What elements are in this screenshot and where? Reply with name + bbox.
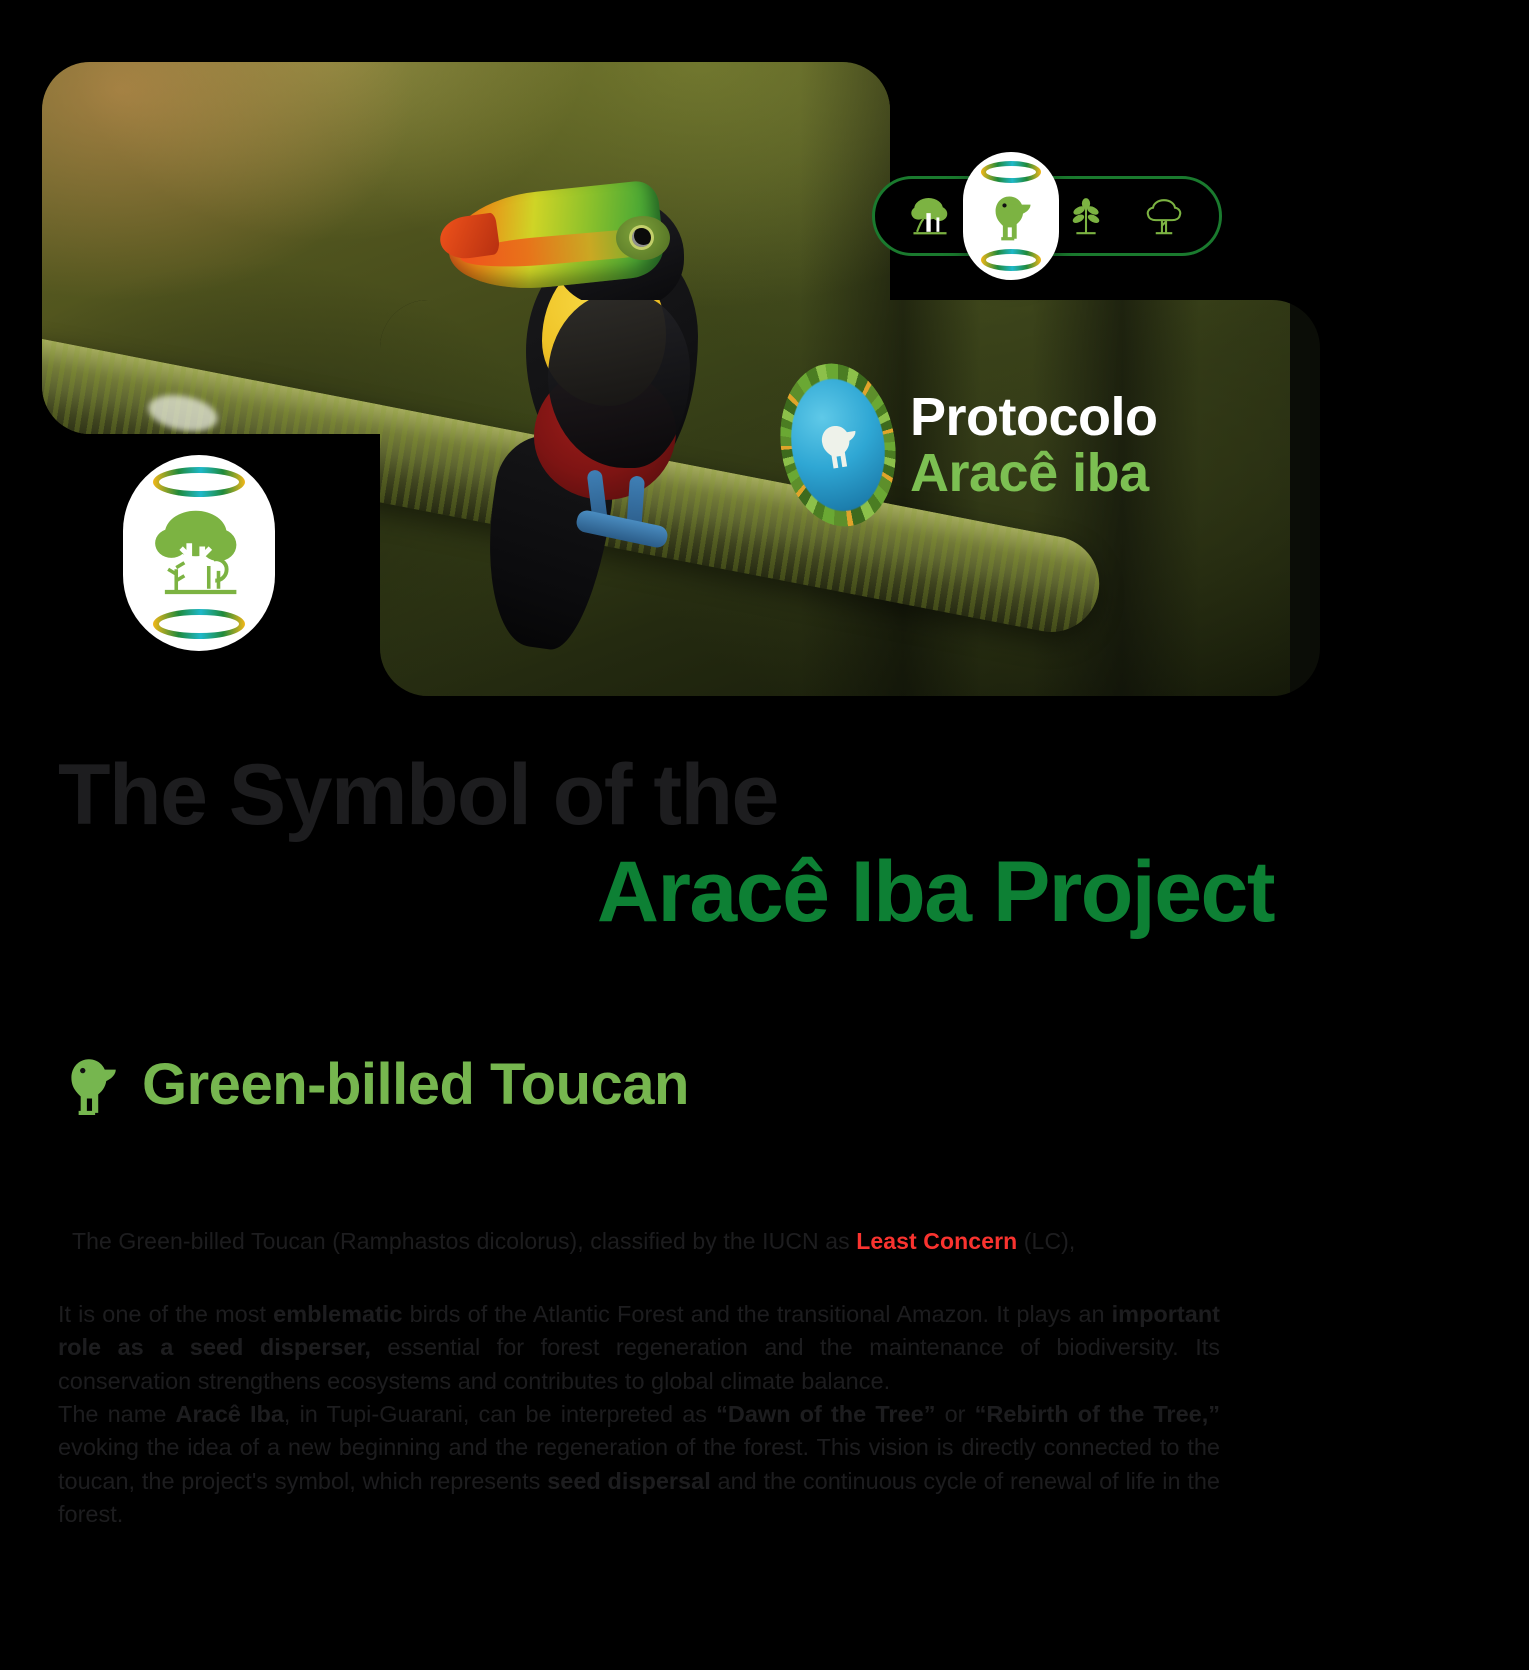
species-heading: Green-billed Toucan [58, 1045, 689, 1123]
p2-text: or [935, 1401, 974, 1427]
halo-arc-top-icon [981, 161, 1041, 183]
p1-text: birds of the Atlantic Forest and the tra… [402, 1301, 1111, 1327]
headline-line-2: Aracê Iba Project [0, 847, 1529, 938]
halo-arc-bottom-icon [981, 249, 1041, 271]
species-name: Green-billed Toucan [142, 1051, 689, 1118]
brand-line-1: Protocolo [910, 389, 1158, 445]
status-badge: Least Concern [856, 1228, 1017, 1254]
hero-section: Protocolo Aracê iba [0, 0, 1529, 745]
p1-emphasis-emblematic: emblematic [273, 1301, 402, 1327]
brand-lockup: Protocolo Aracê iba [790, 372, 1158, 518]
body-copy: It is one of the most emblematic birds o… [58, 1298, 1220, 1532]
toucan-bill-tip [437, 212, 500, 262]
iucn-status-line: The Green-billed Toucan (Ramphastos dico… [72, 1228, 1075, 1255]
halo-arc-bottom-icon [153, 609, 245, 639]
toucan-medallion-icon [779, 365, 897, 524]
p2-emphasis-arace-iba: Aracê Iba [176, 1401, 284, 1427]
paragraph-1: It is one of the most emblematic birds o… [58, 1298, 1220, 1398]
brand-line-2: Aracê iba [910, 445, 1158, 501]
p2-emphasis-seed-dispersal: seed dispersal [547, 1468, 711, 1494]
toucan-eye [632, 228, 651, 247]
p1-text: It is one of the most [58, 1301, 273, 1327]
paragraph-2: The name Aracê Iba, in Tupi-Guarani, can… [58, 1398, 1220, 1531]
toucan-icon [58, 1045, 124, 1123]
brand-wordmark: Protocolo Aracê iba [910, 389, 1158, 501]
tree-icon[interactable] [1136, 188, 1192, 244]
p2-emphasis-rebirth: “Rebirth of the Tree,” [975, 1401, 1220, 1427]
tree-grove-badge[interactable] [123, 455, 275, 651]
forest-icon[interactable] [902, 188, 958, 244]
p2-emphasis-dawn: “Dawn of the Tree” [716, 1401, 935, 1427]
nav-item-toucan-active[interactable] [963, 152, 1059, 280]
toucan-icon [985, 186, 1037, 246]
tree-grove-icon [147, 501, 251, 605]
headline-block: The Symbol of the Aracê Iba Project [0, 750, 1529, 938]
p2-text: The name [58, 1401, 176, 1427]
halo-arc-top-icon [153, 467, 245, 497]
headline-line-1: The Symbol of the [0, 750, 1529, 841]
iucn-suffix: (LC), [1017, 1228, 1075, 1254]
p2-text: , in Tupi-Guarani, can be interpreted as [284, 1401, 716, 1427]
iucn-prefix: The Green-billed Toucan (Ramphastos dico… [72, 1228, 856, 1254]
sapling-icon[interactable] [1058, 188, 1114, 244]
